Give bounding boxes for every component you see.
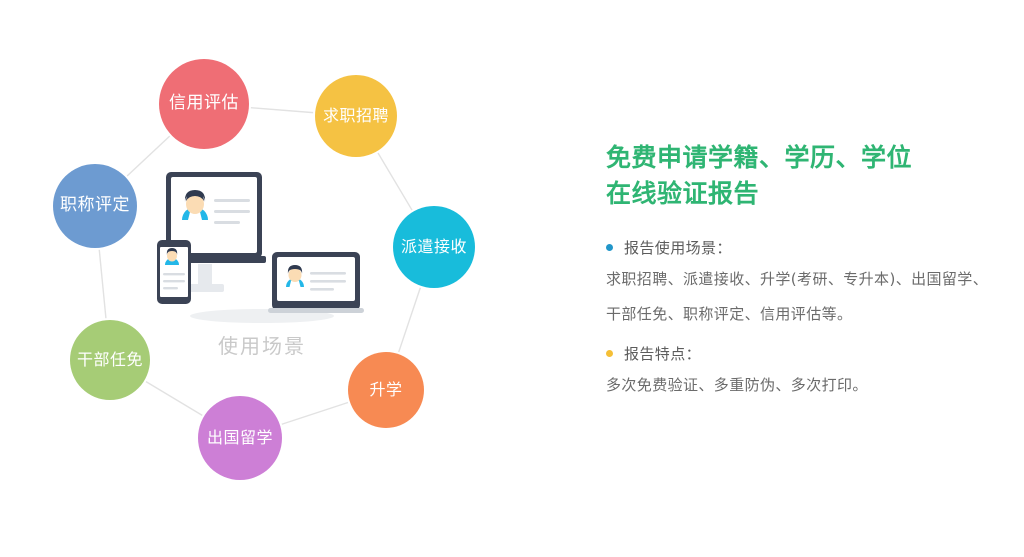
info-section-heading-1: 报告特点： bbox=[606, 343, 1006, 364]
info-body-line: 求职招聘、派遣接收、升学(考研、专升本)、出国留学、 bbox=[606, 272, 1006, 287]
tablet-device bbox=[268, 252, 364, 313]
usage-scenario-diagram: 使用场景 信用评估求职招聘派遣接收升学出国留学干部任免职称评定 bbox=[0, 0, 560, 557]
scenario-node-label: 派遣接收 bbox=[401, 238, 467, 256]
scenario-node-label: 出国留学 bbox=[207, 429, 273, 447]
info-sections: 报告使用场景：求职招聘、派遣接收、升学(考研、专升本)、出国留学、干部任免、职称… bbox=[606, 237, 1006, 393]
info-section-heading-0: 报告使用场景： bbox=[606, 237, 1006, 258]
bullet-dot-icon bbox=[606, 350, 613, 357]
connector-line bbox=[251, 108, 313, 113]
scenario-node-label: 信用评估 bbox=[169, 94, 239, 114]
page-title-line-1: 免费申请学籍、学历、学位 bbox=[606, 140, 1006, 176]
scenario-node-label: 升学 bbox=[369, 381, 402, 399]
bullet-dot-icon bbox=[606, 244, 613, 251]
connector-line bbox=[99, 250, 106, 318]
scenario-node-1[interactable]: 求职招聘 bbox=[315, 75, 397, 157]
connector-line bbox=[282, 402, 348, 424]
info-body-line: 多次免费验证、多重防伪、多次打印。 bbox=[606, 378, 1006, 393]
scenario-node-5[interactable]: 干部任免 bbox=[70, 320, 150, 400]
connector-line bbox=[146, 382, 202, 416]
tablet-avatar bbox=[286, 265, 304, 287]
info-body-line: 干部任免、职称评定、信用评估等。 bbox=[606, 307, 1006, 322]
connector-line bbox=[399, 288, 421, 352]
scenario-node-3[interactable]: 升学 bbox=[348, 352, 424, 428]
scenario-node-label: 干部任免 bbox=[77, 351, 143, 369]
info-section-label: 报告特点： bbox=[624, 343, 701, 364]
page-title: 免费申请学籍、学历、学位 在线验证报告 bbox=[606, 140, 1006, 211]
scenario-node-6[interactable]: 职称评定 bbox=[53, 164, 137, 248]
scenario-node-label: 职称评定 bbox=[60, 196, 130, 216]
info-section-label: 报告使用场景： bbox=[624, 237, 732, 258]
mobile-phone bbox=[157, 240, 191, 304]
device-illustration bbox=[152, 168, 372, 328]
scenario-node-2[interactable]: 派遣接收 bbox=[393, 206, 475, 288]
info-panel: 免费申请学籍、学历、学位 在线验证报告 报告使用场景：求职招聘、派遣接收、升学(… bbox=[606, 140, 1006, 414]
page-title-line-2: 在线验证报告 bbox=[606, 176, 1006, 212]
center-caption: 使用场景 bbox=[218, 330, 306, 359]
scenario-node-0[interactable]: 信用评估 bbox=[159, 59, 249, 149]
scenario-node-4[interactable]: 出国留学 bbox=[198, 396, 282, 480]
scenario-node-label: 求职招聘 bbox=[323, 107, 389, 125]
connector-line bbox=[378, 153, 412, 210]
